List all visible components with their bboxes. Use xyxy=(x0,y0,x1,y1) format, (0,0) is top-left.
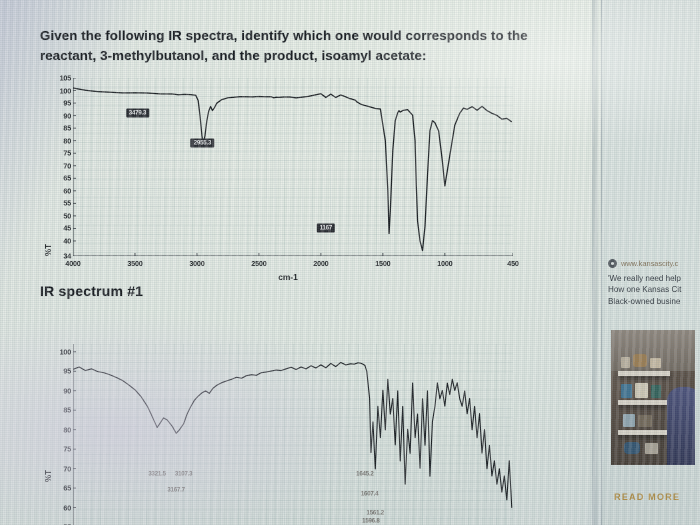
thumbnail-person xyxy=(667,387,695,465)
sidebar-divider xyxy=(601,0,602,525)
thumbnail-shelf xyxy=(618,430,670,435)
y-tick-label: 90 xyxy=(63,111,71,120)
globe-icon xyxy=(608,259,617,268)
thumbnail-item xyxy=(651,385,661,398)
chart2-y-axis-label: %T xyxy=(44,470,53,482)
y-tick-label: 60 xyxy=(63,186,71,195)
thumbnail-item xyxy=(624,442,640,454)
peak-label: 3479.3 xyxy=(126,109,149,118)
peak-label: 1645.2 xyxy=(356,471,373,478)
sidebar-thumbnail-image[interactable] xyxy=(611,330,695,465)
ir-spectrum-1-chart: %T 10510095908580757065605550454034 4000… xyxy=(40,76,515,266)
y-tick-label: 85 xyxy=(63,124,71,133)
chart1-x-axis-label: cm-1 xyxy=(278,272,298,282)
ir-spectrum-1-caption: IR spectrum #1 xyxy=(40,283,143,299)
question-text: Given the following IR spectra, identify… xyxy=(40,26,580,66)
sidebar-headline-line-1: 'We really need help xyxy=(608,273,700,284)
peak-label: 3107.3 xyxy=(175,471,192,478)
y-tick-label: 95 xyxy=(63,99,71,108)
thumbnail-item xyxy=(633,354,647,367)
x-tick-label: 2000 xyxy=(313,259,328,268)
y-tick-label: 85 xyxy=(63,406,71,415)
ir-spectrum-2-chart: %T 100959085807570656055 3321.53107.3316… xyxy=(40,342,515,525)
x-tick-label: 1000 xyxy=(437,259,452,268)
sidebar-headline[interactable]: 'We really need help How one Kansas Cit … xyxy=(608,273,700,307)
x-tick-label: 450 xyxy=(507,259,518,268)
y-tick-label: 80 xyxy=(63,136,71,145)
y-tick-label: 80 xyxy=(63,425,71,434)
y-tick-label: 65 xyxy=(63,174,71,183)
y-tick-label: 95 xyxy=(63,367,71,376)
x-tick-label: 3000 xyxy=(189,259,204,268)
peak-label: 3167.7 xyxy=(167,487,184,494)
sidebar-source-label: www.kansascity.c xyxy=(621,259,678,268)
y-tick-label: 100 xyxy=(60,86,71,95)
y-tick-label: 60 xyxy=(63,503,71,512)
x-tick-label: 1500 xyxy=(375,259,390,268)
thumbnail-item xyxy=(645,443,658,454)
article-page: Given the following IR spectra, identify… xyxy=(0,0,598,525)
thumbnail-item xyxy=(650,358,661,368)
thumbnail-shelf xyxy=(618,371,670,376)
x-tick-label: 3500 xyxy=(127,259,142,268)
peak-label: 1561.2 xyxy=(367,510,384,517)
peak-label: 1607.4 xyxy=(361,490,378,497)
thumbnail-item xyxy=(638,415,652,427)
peak-label: 1596.8 xyxy=(362,518,379,525)
peak-label: 2955.3 xyxy=(191,139,214,148)
page-right-edge xyxy=(592,0,598,525)
thumbnail-item xyxy=(623,414,635,427)
y-tick-label: 50 xyxy=(63,211,71,220)
y-tick-label: 45 xyxy=(63,224,71,233)
y-tick-label: 65 xyxy=(63,484,71,493)
peak-label: 3321.5 xyxy=(148,471,165,478)
thumbnail-item xyxy=(621,384,632,398)
peak-label: 1167 xyxy=(317,224,335,233)
chart1-y-axis-label: %T xyxy=(44,244,53,256)
chart2-plot-area xyxy=(73,344,513,525)
thumbnail-item xyxy=(621,357,630,368)
y-tick-label: 75 xyxy=(63,149,71,158)
sidebar-source: www.kansascity.c xyxy=(608,259,678,268)
thumbnail-item xyxy=(635,383,648,398)
y-tick-label: 40 xyxy=(63,236,71,245)
x-tick-label: 4000 xyxy=(65,259,80,268)
y-tick-label: 70 xyxy=(63,161,71,170)
x-tick-label: 2500 xyxy=(251,259,266,268)
y-tick-label: 55 xyxy=(63,199,71,208)
y-tick-label: 70 xyxy=(63,464,71,473)
sidebar-headline-line-2: How one Kansas Cit xyxy=(608,284,700,295)
chart1-plot-area xyxy=(73,78,513,256)
sidebar-headline-line-3: Black-owned busine xyxy=(608,296,700,307)
y-tick-label: 100 xyxy=(60,347,71,356)
y-tick-label: 105 xyxy=(60,74,71,83)
news-sidebar-widget: www.kansascity.c 'We really need help Ho… xyxy=(601,0,700,525)
y-tick-label: 75 xyxy=(63,445,71,454)
y-tick-label: 90 xyxy=(63,386,71,395)
read-more-link[interactable]: READ MORE xyxy=(614,492,680,502)
thumbnail-shelf xyxy=(618,400,670,405)
